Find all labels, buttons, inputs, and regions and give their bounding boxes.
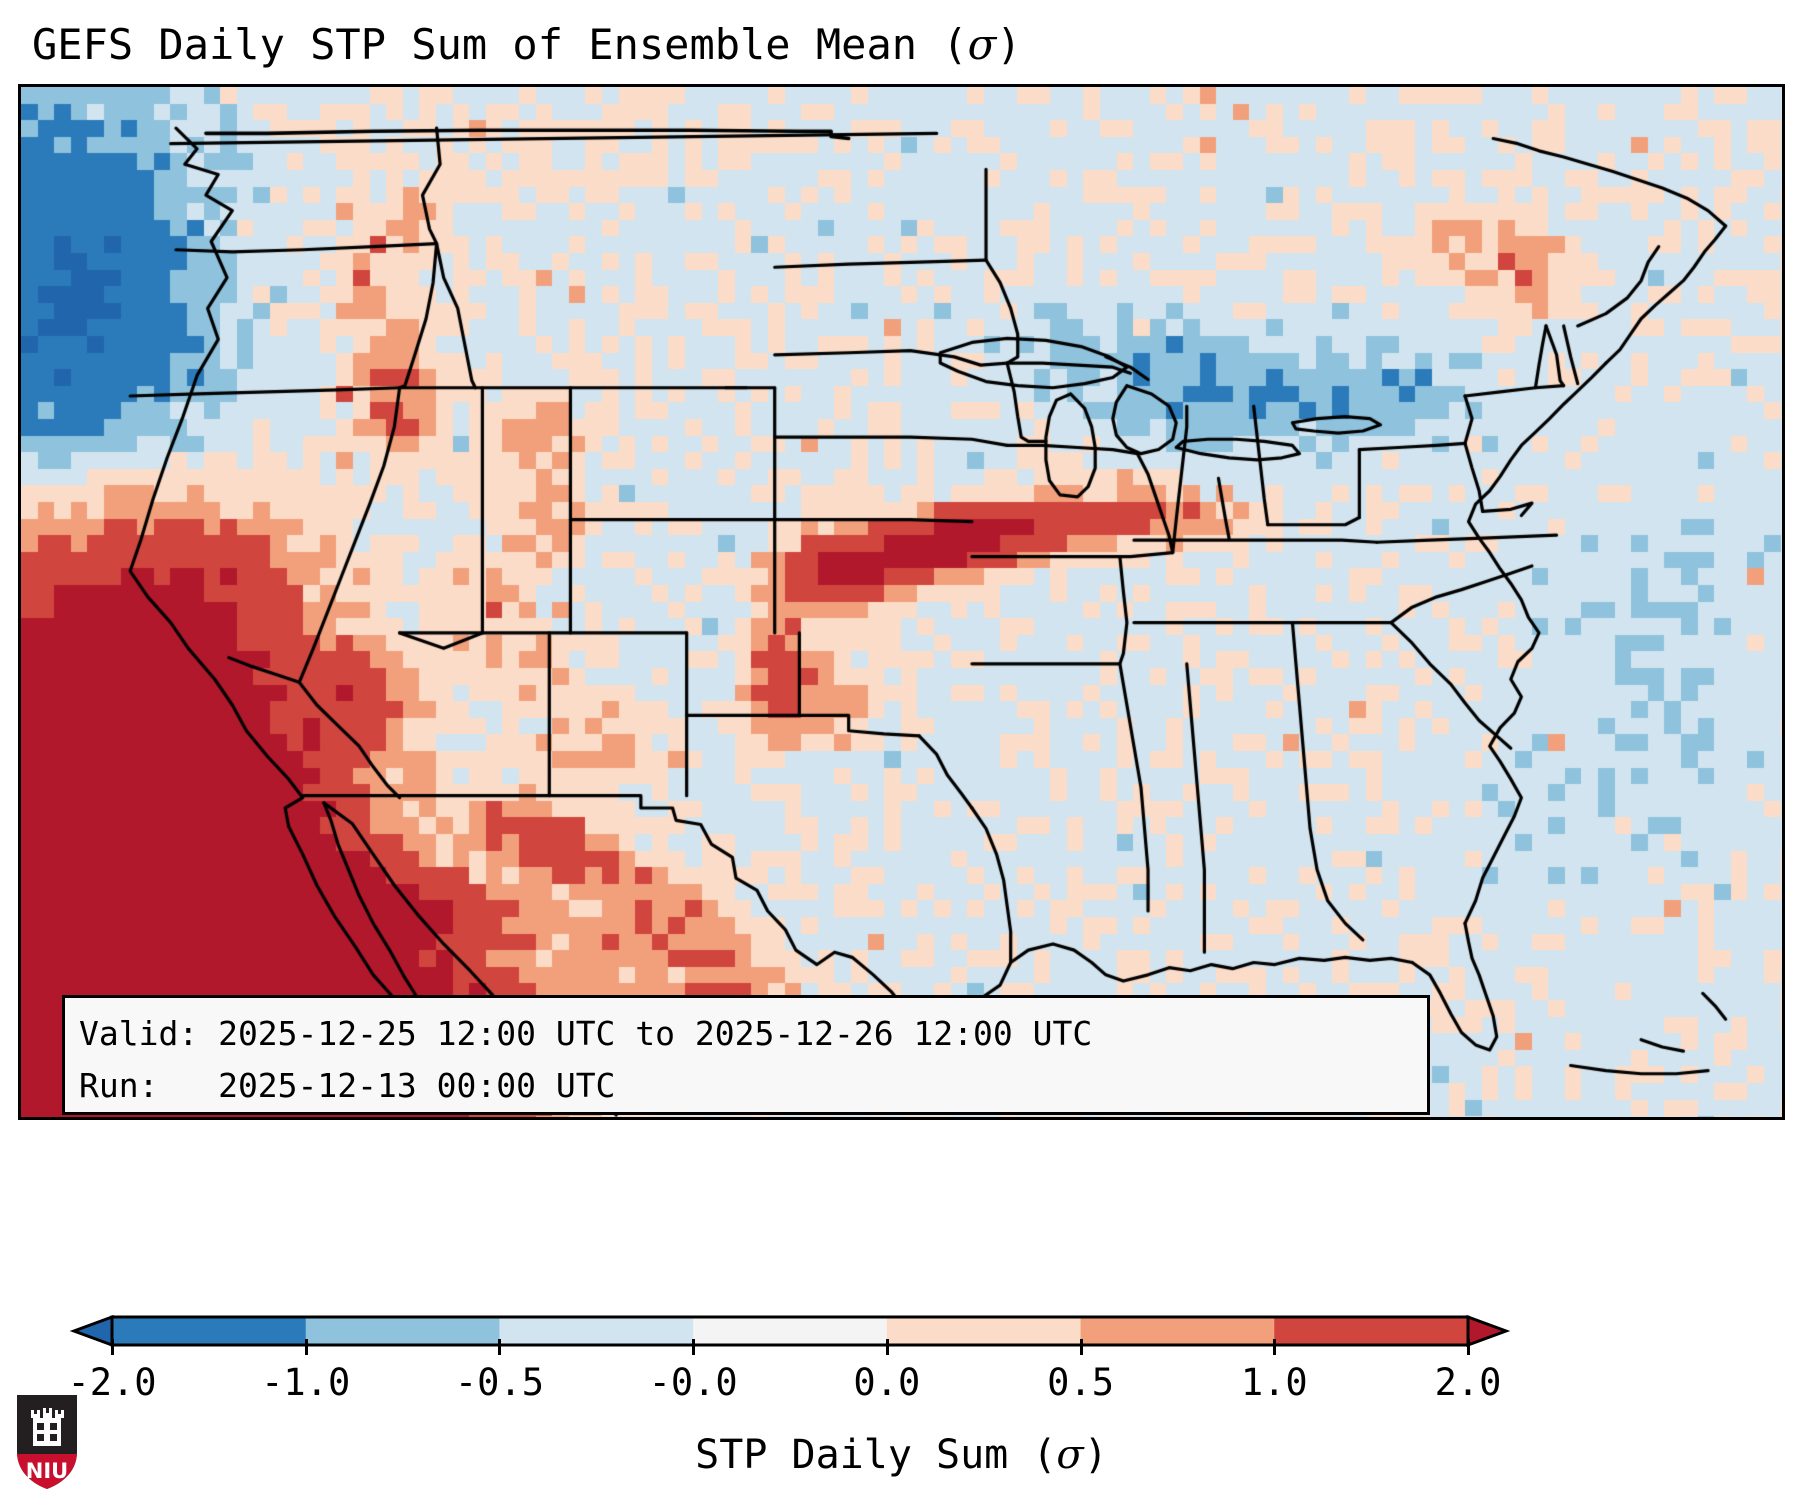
colorbar-tick-mark xyxy=(305,1339,308,1355)
colorbar-tick-mark xyxy=(886,1339,889,1355)
colorbar-tick-label: -0.0 xyxy=(649,1361,738,1404)
colorbar-tick-label: 0.5 xyxy=(1047,1361,1114,1404)
colorbar-tick-mark xyxy=(1273,1339,1276,1355)
colorbar-label-suffix: ) xyxy=(1084,1432,1108,1478)
title-prefix: GEFS Daily STP Sum of Ensemble Mean ( xyxy=(32,20,968,69)
colorbar-tick-label: -0.5 xyxy=(455,1361,544,1404)
map-plot-area xyxy=(18,84,1785,1120)
colorbar-tick-label: 1.0 xyxy=(1241,1361,1308,1404)
page-title: GEFS Daily STP Sum of Ensemble Mean (σ) xyxy=(32,20,1022,69)
colorbar-label-prefix: STP Daily Sum ( xyxy=(695,1432,1056,1478)
colorbar-tick-mark xyxy=(692,1339,695,1355)
colorbar-label-sigma: σ xyxy=(1056,1432,1083,1478)
colorbar-tick-label: 2.0 xyxy=(1435,1361,1502,1404)
figure: GEFS Daily STP Sum of Ensemble Mean (σ) … xyxy=(0,0,1803,1506)
colorbar-axis-label: STP Daily Sum (σ) xyxy=(0,1432,1803,1478)
colorbar-tick-mark xyxy=(498,1339,501,1355)
colorbar xyxy=(40,1313,1540,1359)
title-sigma-symbol: σ xyxy=(968,20,997,69)
colorbar-tick-label: -2.0 xyxy=(67,1361,156,1404)
colorbar-tick-mark xyxy=(1080,1339,1083,1355)
run-time-line: Run: 2025-12-13 00:00 UTC xyxy=(79,1060,1413,1112)
colorbar-tick-label: 0.0 xyxy=(853,1361,920,1404)
valid-time-line: Valid: 2025-12-25 12:00 UTC to 2025-12-2… xyxy=(79,1008,1413,1060)
colorbar-tick-mark xyxy=(111,1339,114,1355)
niu-logo: NIU xyxy=(14,1392,80,1492)
colorbar-tick-mark xyxy=(1467,1339,1470,1355)
valid-run-annotation-box: Valid: 2025-12-25 12:00 UTC to 2025-12-2… xyxy=(62,995,1430,1115)
niu-logo-text: NIU xyxy=(26,1459,68,1483)
colorbar-tick-label: -1.0 xyxy=(261,1361,350,1404)
map-heatmap-canvas xyxy=(21,87,1782,1117)
colorbar-tick-row: -2.0-1.0-0.5-0.00.00.51.02.0 xyxy=(0,1355,1803,1415)
title-suffix: ) xyxy=(996,20,1021,69)
